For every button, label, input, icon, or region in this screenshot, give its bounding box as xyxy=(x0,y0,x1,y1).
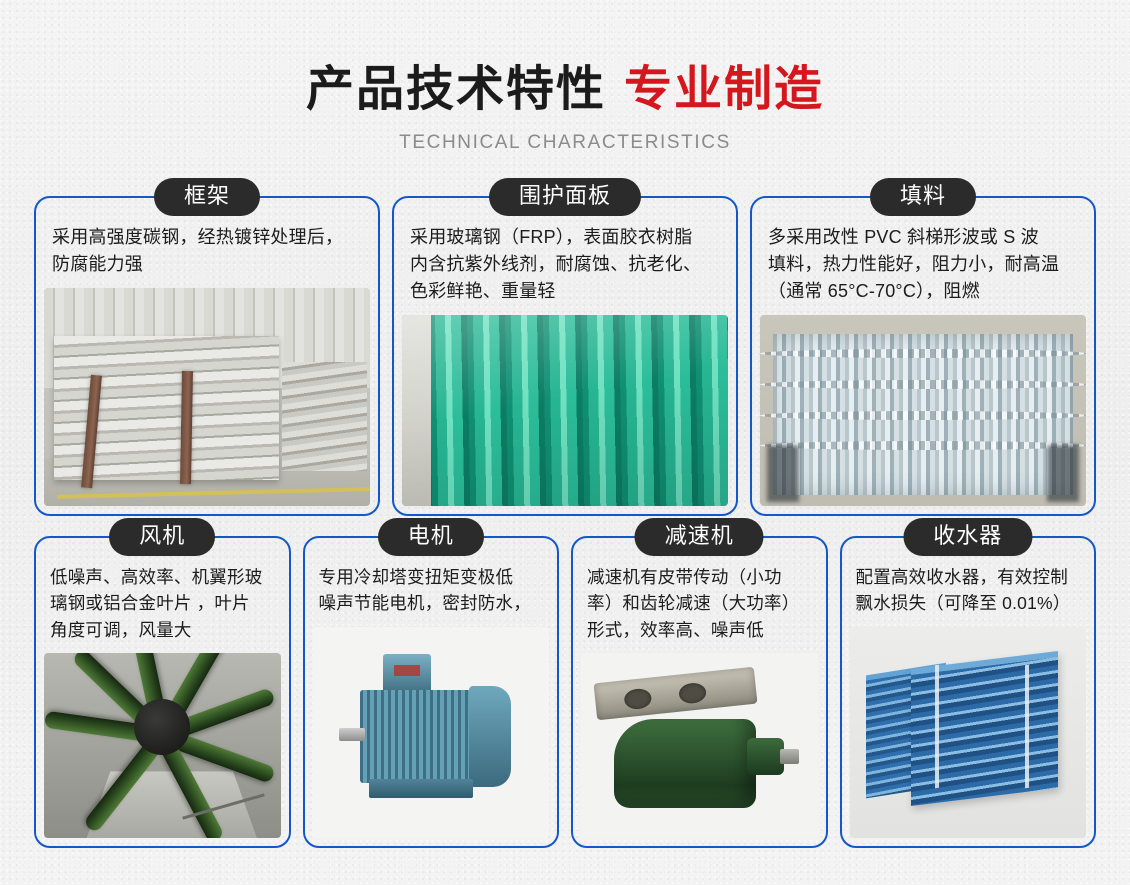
drift-eliminator-photo xyxy=(850,627,1087,839)
card-badge-motor: 电机 xyxy=(378,518,484,556)
page-subtitle: TECHNICAL CHARACTERISTICS xyxy=(0,114,1130,154)
card-badge-enclosure-panel: 围护面板 xyxy=(489,178,641,216)
card-badge-frame: 框架 xyxy=(154,178,260,216)
feature-card-drift-eliminator[interactable]: 收水器 配置高效收水器，有效控制 飘水损失（可降至 0.01%） xyxy=(840,536,1097,848)
page-title-accent: 专业制造 xyxy=(624,63,824,116)
feature-card-frame[interactable]: 框架 采用高强度碳钢，经热镀锌处理后， 防腐能力强 xyxy=(34,196,380,516)
feature-row-bottom: 风机 低噪声、高效率、机翼形玻 璃钢或铝合金叶片 ，叶片 角度可调，风量大 电机… xyxy=(34,536,1096,848)
feature-card-fill[interactable]: 填料 多采用改性 PVC 斜梯形波或 S 波 填料，热力性能好，阻力小，耐高温 … xyxy=(750,196,1096,516)
card-badge-reducer: 减速机 xyxy=(635,518,764,556)
feature-card-fan[interactable]: 风机 低噪声、高效率、机翼形玻 璃钢或铝合金叶片 ，叶片 角度可调，风量大 xyxy=(34,536,291,848)
feature-row-top: 框架 采用高强度碳钢，经热镀锌处理后， 防腐能力强 围护面板 采用玻璃钢（FRP… xyxy=(34,196,1096,516)
card-badge-fill: 填料 xyxy=(870,178,976,216)
gear-reducer-photo xyxy=(581,653,818,838)
pvc-s-wave-fill-pack-photo xyxy=(760,315,1086,506)
card-badge-drift-eliminator: 收水器 xyxy=(903,518,1032,556)
green-frp-corrugated-panel-photo xyxy=(402,315,728,506)
page-header: 产品技术特性专业制造 TECHNICAL CHARACTERISTICS xyxy=(0,0,1130,178)
feature-card-motor[interactable]: 电机 专用冷却塔变扭矩变极低 噪声节能电机，密封防水， xyxy=(303,536,560,848)
electric-motor-photo xyxy=(313,627,550,839)
galvanized-steel-frame-stack-photo xyxy=(44,288,370,506)
cooling-tower-fan-blades-photo xyxy=(44,653,281,838)
page-title: 产品技术特性专业制造 xyxy=(0,0,1130,114)
feature-card-reducer[interactable]: 减速机 减速机有皮带传动（小功 率）和齿轮减速（大功率） 形式，效率高、噪声低 xyxy=(571,536,828,848)
feature-card-enclosure-panel[interactable]: 围护面板 采用玻璃钢（FRP），表面胶衣树脂 内含抗紫外线剂，耐腐蚀、抗老化、 … xyxy=(392,196,738,516)
card-badge-fan: 风机 xyxy=(109,518,215,556)
page-title-main: 产品技术特性 xyxy=(306,63,606,116)
